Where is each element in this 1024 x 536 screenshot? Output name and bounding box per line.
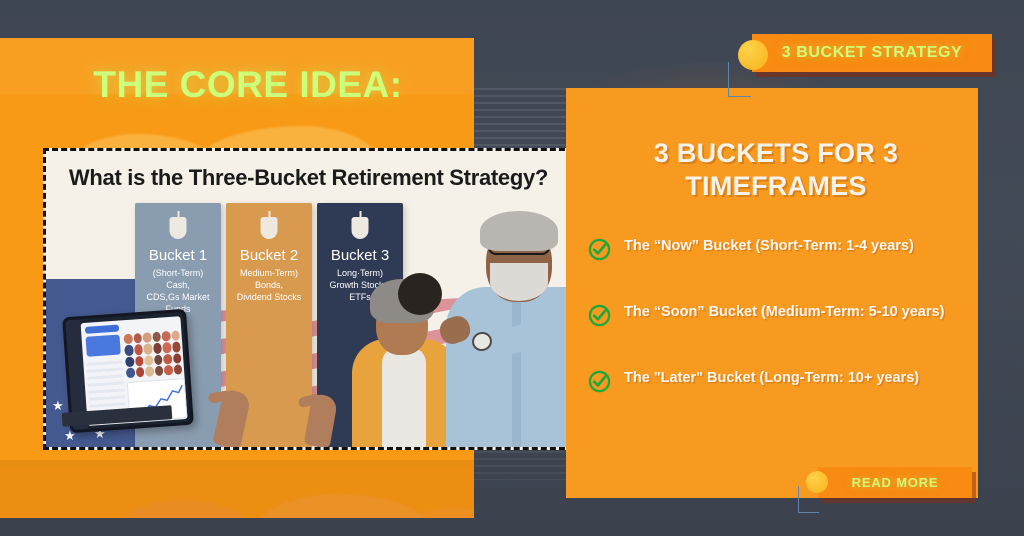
list-item-label: The "Later" Bucket (Long-Term: 10+ years…: [624, 368, 968, 389]
bucket-icon: [352, 217, 369, 239]
yellow-circle-icon: [806, 471, 828, 493]
tablet-ui-card: [86, 335, 121, 357]
list-item: The "Later" Bucket (Long-Term: 10+ years…: [588, 368, 968, 408]
man-beard: [490, 263, 548, 301]
man-shirt-placket: [512, 292, 521, 447]
tablet-ui-pill: [85, 325, 119, 334]
infographic-card: ★ ★ ★ ★ ★ What is the Three-Bucket Retir…: [43, 148, 574, 450]
bullet-list: The “Now” Bucket (Short-Term: 1-4 years)…: [588, 236, 968, 434]
check-circle-icon: [588, 370, 611, 393]
list-item: The “Soon” Bucket (Medium-Term: 5-10 yea…: [588, 302, 968, 342]
check-circle-icon: [588, 238, 611, 261]
bucket-description: (Short-Term) Cash, CDS,Gs Market Funds: [135, 267, 221, 315]
bucket-description: Medium-Term) Bonds, Dividend Stocks: [226, 267, 312, 303]
strategy-badge-label: 3 BUCKET STRATEGY: [752, 34, 992, 72]
read-more-button[interactable]: READ MORE: [818, 467, 972, 498]
check-circle-icon: [588, 304, 611, 327]
person-man: [446, 197, 574, 447]
core-idea-title: THE CORE IDEA:: [78, 64, 418, 106]
strategy-badge[interactable]: 3 BUCKET STRATEGY: [752, 34, 992, 72]
slide-canvas: THE CORE IDEA: ★ ★ ★ ★ ★ What is the Thr…: [0, 0, 1024, 536]
list-item: The “Now” Bucket (Short-Term: 1-4 years): [588, 236, 968, 276]
bucket-name: Bucket 1: [135, 247, 221, 264]
bucket-name: Bucket 2: [226, 247, 312, 264]
list-item-label: The “Soon” Bucket (Medium-Term: 5-10 yea…: [624, 302, 968, 323]
bucket-icon: [170, 217, 187, 239]
bucket-icon: [261, 217, 278, 239]
list-item-label: The “Now” Bucket (Short-Term: 1-4 years): [624, 236, 968, 257]
man-hair: [480, 211, 558, 251]
right-heading: 3 BUCKETS FOR 3 TIMEFRAMES: [596, 137, 956, 203]
tablet-ui-grid: [123, 330, 182, 378]
yellow-circle-icon: [738, 40, 768, 70]
woman-hair-bun: [398, 273, 442, 315]
woman-shirt: [382, 347, 426, 447]
read-more-label: READ MORE: [818, 467, 972, 498]
card-title: What is the Three-Bucket Retirement Stra…: [46, 165, 571, 191]
